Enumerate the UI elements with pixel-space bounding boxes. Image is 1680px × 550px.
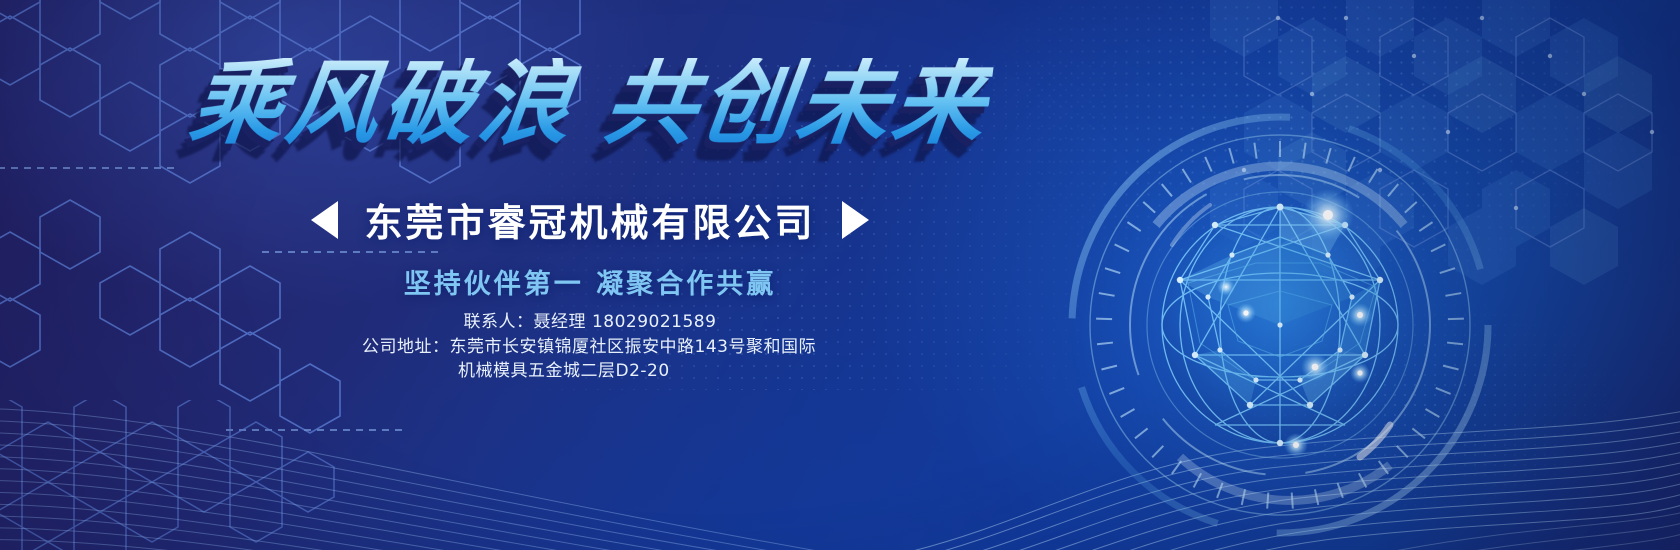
right-triangle-icon bbox=[842, 201, 869, 239]
company-name-row: 东莞市睿冠机械有限公司 bbox=[0, 192, 1180, 247]
wave-lines-bottom-left bbox=[0, 405, 840, 550]
left-triangle-icon bbox=[311, 201, 338, 239]
contact-block: 联系人：聂经理 18029021589 公司地址：东莞市长安镇锦厦社区振安中路1… bbox=[0, 310, 1180, 384]
promo-banner: 乘风破浪共创未来 东莞市睿冠机械有限公司 坚持伙伴第一 凝聚合作共赢 联系人：聂… bbox=[0, 0, 1680, 550]
tagline-text: 坚持伙伴第一 凝聚合作共赢 bbox=[0, 262, 1180, 301]
headline-part2: 共创未来 bbox=[598, 50, 995, 157]
contact-person-line: 联系人：聂经理 18029021589 bbox=[0, 310, 1180, 335]
hexagon-pattern-bottom-left bbox=[0, 400, 480, 550]
headline-text: 乘风破浪共创未来 bbox=[185, 58, 994, 150]
company-name: 东莞市睿冠机械有限公司 bbox=[364, 192, 815, 247]
wave-lines-bottom-right bbox=[640, 400, 1680, 550]
headline-block: 乘风破浪共创未来 bbox=[0, 58, 1180, 150]
halftone-dots-bottom-right bbox=[1120, 300, 1680, 550]
headline-part1: 乘风破浪 bbox=[184, 50, 581, 157]
contact-address-line: 公司地址：东莞市长安镇锦厦社区振安中路143号聚和国际机械模具五金城二层D2-2… bbox=[0, 335, 1180, 384]
hexagon-pattern-top-right bbox=[1180, 0, 1680, 300]
